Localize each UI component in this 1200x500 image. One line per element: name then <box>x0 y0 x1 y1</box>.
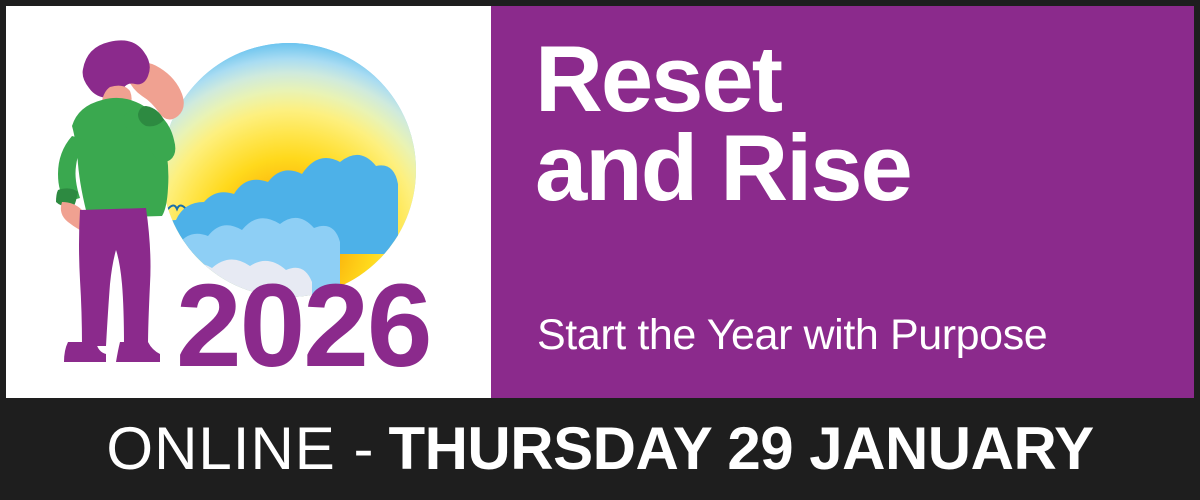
banner-top-row: 2026 Reset and Rise Start the Year with … <box>6 6 1194 398</box>
event-banner: 2026 Reset and Rise Start the Year with … <box>0 0 1200 500</box>
sunrise-illustration-svg: 2026 <box>6 6 491 398</box>
date-main: THURSDAY 29 JANUARY <box>388 419 1093 479</box>
person-trousers <box>79 208 151 346</box>
date-line: ONLINE - THURSDAY 29 JANUARY <box>106 419 1093 479</box>
purple-text-panel: Reset and Rise Start the Year with Purpo… <box>491 6 1194 398</box>
date-bar: ONLINE - THURSDAY 29 JANUARY <box>0 398 1200 500</box>
illustration-panel: 2026 <box>6 6 491 398</box>
banner-subheadline: Start the Year with Purpose <box>537 314 1047 357</box>
person-shoe-right <box>116 342 160 362</box>
date-prefix: ONLINE - <box>106 419 374 479</box>
year-label: 2026 <box>176 260 431 392</box>
person-figure <box>56 40 184 362</box>
banner-headline: Reset and Rise <box>535 34 911 213</box>
